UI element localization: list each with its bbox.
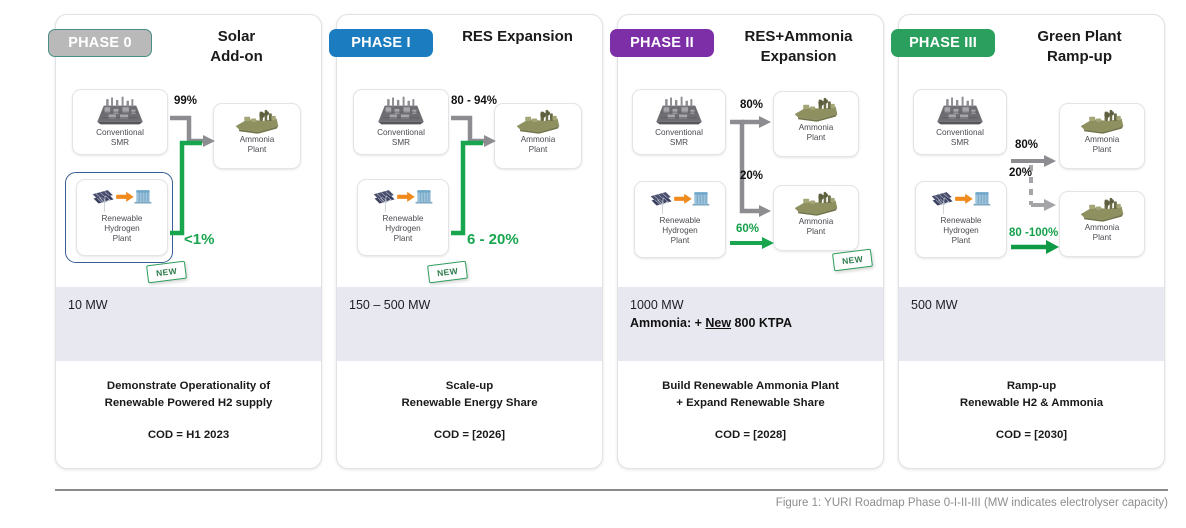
phase-2-diagram: PHASE II RES+Ammonia Expansion Conventio… <box>618 15 883 287</box>
phase-3-connectors <box>899 15 1164 287</box>
phase-2-desc: Build Renewable Ammonia Plant + Expand R… <box>662 378 839 411</box>
phase-0-diagram: PHASE 0 Solar Add-on ConventionalSMR Ren… <box>56 15 321 287</box>
phase-2-gray-pct-bottom: 20% <box>740 170 763 182</box>
phase-1-mw-band: 150 – 500 MW <box>337 287 602 361</box>
phase-3-diagram: PHASE III Green Plant Ramp-up Convention… <box>899 15 1164 287</box>
footer-divider <box>55 489 1168 491</box>
phase-2-gray-pct-top: 80% <box>740 99 763 111</box>
phase-1-green-pct: 6 - 20% <box>467 231 519 248</box>
phase-1-diagram: PHASE I RES Expansion ConventionalSMR Re… <box>337 15 602 287</box>
phase-2-mw: 1000 MW <box>630 296 871 314</box>
phase-1-description: Scale-up Renewable Energy Share COD = [2… <box>337 361 602 468</box>
phase-2-green-pct: 60% <box>736 223 759 235</box>
phase-0-mw: 10 MW <box>68 296 309 314</box>
phase-2-connectors <box>618 15 883 287</box>
phase-card-3[interactable]: PHASE III Green Plant Ramp-up Convention… <box>898 14 1165 469</box>
phase-0-mw-band: 10 MW <box>56 287 321 361</box>
phase-0-description: Demonstrate Operationality of Renewable … <box>56 361 321 468</box>
figure-caption: Figure 1: YURI Roadmap Phase 0-I-II-III … <box>776 497 1168 509</box>
phase-3-gray-pct-top: 80% <box>1015 139 1038 151</box>
roadmap-container: PHASE 0 Solar Add-on ConventionalSMR Ren… <box>55 14 1165 469</box>
phase-3-mw-band: 500 MW <box>899 287 1164 361</box>
phase-3-green-pct: 80 -100% <box>1009 227 1058 239</box>
phase-1-cod: COD = [2026] <box>434 429 505 441</box>
phase-1-desc: Scale-up Renewable Energy Share <box>401 378 537 411</box>
phase-2-mw-extra: Ammonia: + New 800 KTPA <box>630 314 871 332</box>
phase-3-description: Ramp-up Renewable H2 & Ammonia COD = [20… <box>899 361 1164 468</box>
phase-card-2[interactable]: PHASE II RES+Ammonia Expansion Conventio… <box>617 14 884 469</box>
phase-2-mw-band: 1000 MW Ammonia: + New 800 KTPA <box>618 287 883 361</box>
phase-0-cod: COD = H1 2023 <box>148 429 229 441</box>
phase-card-0[interactable]: PHASE 0 Solar Add-on ConventionalSMR Ren… <box>55 14 322 469</box>
phase-3-mw: 500 MW <box>911 296 1152 314</box>
phase-3-cod: COD = [2030] <box>996 429 1067 441</box>
phase-1-mw: 150 – 500 MW <box>349 296 590 314</box>
phase-2-cod: COD = [2028] <box>715 429 786 441</box>
phase-1-gray-pct: 80 - 94% <box>451 95 497 107</box>
phase-3-gray-pct-bottom: 20% <box>1009 167 1032 179</box>
phase-0-green-pct: <1% <box>184 231 214 248</box>
phase-3-desc: Ramp-up Renewable H2 & Ammonia <box>960 378 1103 411</box>
phase-2-description: Build Renewable Ammonia Plant + Expand R… <box>618 361 883 468</box>
phase-0-gray-pct: 99% <box>174 95 197 107</box>
phase-0-desc: Demonstrate Operationality of Renewable … <box>105 378 273 411</box>
phase-card-1[interactable]: PHASE I RES Expansion ConventionalSMR Re… <box>336 14 603 469</box>
